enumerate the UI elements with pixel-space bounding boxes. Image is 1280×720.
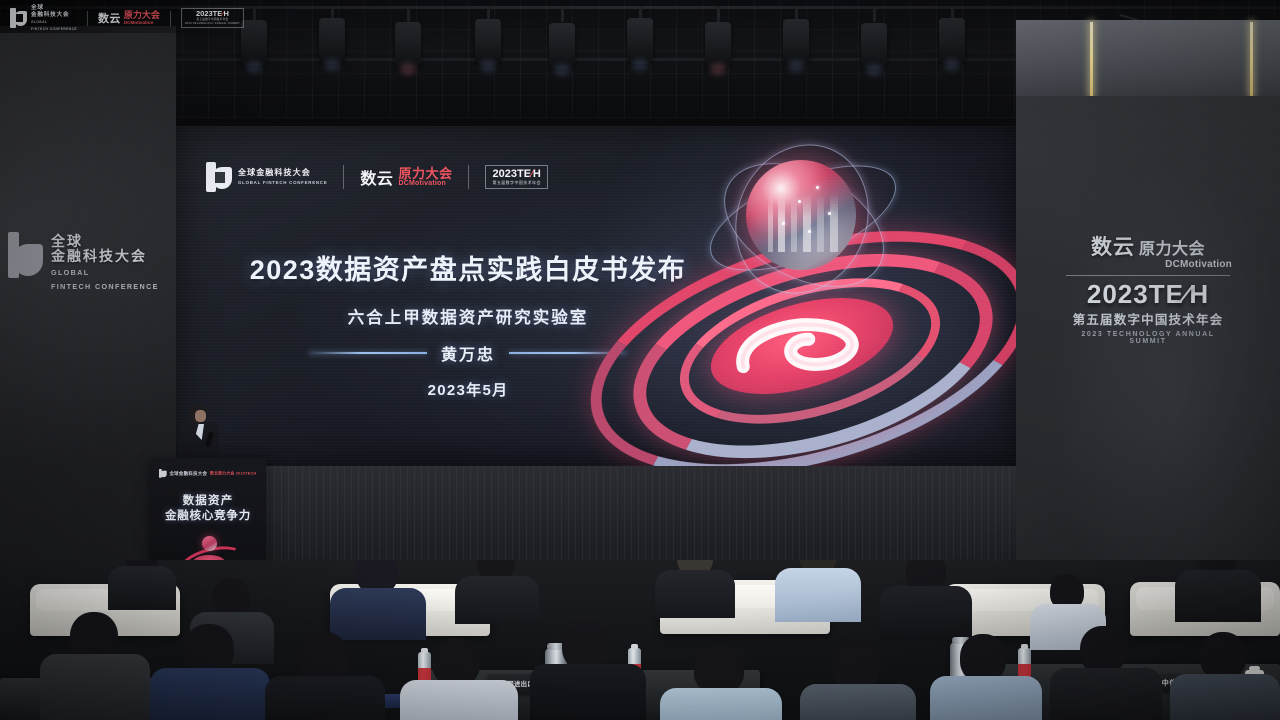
- stage-spotlight: [395, 22, 421, 68]
- audience-member: [150, 624, 270, 720]
- podium-logo-dc: 数云原力大会 2023TECH: [210, 471, 257, 477]
- screen-badge-year: 2023: [492, 168, 516, 180]
- audience-member: [930, 634, 1042, 720]
- screen-dc-en: DCMotivation: [398, 180, 452, 188]
- screen-gf-en: GLOBAL FINTECH CONFERENCE: [238, 180, 327, 187]
- global-fintech-logo-icon: [206, 162, 232, 192]
- right-wall-subtitle-cn: 第五届数字中国技术年会: [1062, 309, 1234, 328]
- screen-dc-cn: 数云: [360, 165, 393, 189]
- led-strip-light: [1090, 22, 1093, 96]
- screen-presenter-name: 黄万忠: [441, 341, 495, 365]
- audience-member: [530, 620, 646, 720]
- global-fintech-logo-icon: [8, 232, 44, 278]
- audience-member: [1170, 632, 1280, 720]
- screen-dcmotivation-logo: 数云 原力大会 DCMotivation: [360, 165, 452, 189]
- podium-line1: 数据资产: [150, 494, 266, 509]
- right-wall-subtitle-en: 2023 TECHNOLOGY ANNUAL SUMMIT: [1062, 331, 1234, 345]
- light-hanger: [561, 6, 564, 22]
- podium-logo-lockup: 全球金融科技大会 数云原力大会 2023TECH: [159, 469, 257, 478]
- decorative-rule-left: [309, 352, 427, 354]
- bug-gf-cn-line2: 金融科技大会: [31, 12, 77, 19]
- screen-gf-cn: 全球金融科技大会: [238, 168, 327, 178]
- bug-tech-badge: 2023TE∕H 第五届数字中国技术年会 2023 TECHNOLOGY ANN…: [181, 8, 244, 29]
- left-wall-cn-line1: 全球: [51, 234, 159, 249]
- bug-dc-yuan: 原力大会: [124, 11, 160, 20]
- speaker-face: [195, 410, 206, 422]
- right-wall-shu-label: 数云: [1091, 231, 1135, 261]
- broadcast-logo-bug: 全球 金融科技大会 GLOBAL FINTECH CONFERENCE 数云 原…: [0, 0, 246, 33]
- audience-member: [40, 612, 150, 720]
- graphic-globe-sphere: [746, 160, 856, 270]
- stage-spotlight: [627, 18, 653, 64]
- light-hanger: [717, 6, 720, 22]
- bug-dcmotivation: 数云 原力大会 DCMotivation: [98, 10, 160, 26]
- screen-3d-graphic: [576, 136, 1016, 466]
- logo-divider: [343, 165, 344, 189]
- audience-member: [1050, 626, 1162, 720]
- right-wall-divider: [1066, 275, 1230, 276]
- right-wall-te: TE: [1149, 279, 1184, 309]
- audience-area: 中国进出口银行 中信银行 中信银行: [0, 560, 1280, 720]
- podium-logo-cn: 全球金融科技大会: [169, 470, 207, 476]
- stage-spotlight: [549, 23, 575, 69]
- audience-member: [660, 646, 782, 720]
- conference-stage-frame: 全球 金融科技大会 GLOBAL FINTECH CONFERENCE 数云 原…: [0, 0, 1280, 720]
- audience-member: [400, 638, 518, 720]
- speaker-presenter: [176, 404, 222, 466]
- screen-badge-te: TE: [517, 168, 531, 180]
- podium-sphere: [202, 536, 217, 551]
- bug-gf-en-line1: GLOBAL: [31, 20, 77, 25]
- screen-badge-sub: 第五届数字中国技术年会: [492, 180, 540, 186]
- audience-member: [880, 560, 972, 636]
- left-wall-en-line1: GLOBAL: [51, 268, 159, 278]
- city-skyline-icon: [764, 194, 838, 252]
- bug-global-fintech: 全球 金融科技大会 GLOBAL FINTECH CONFERENCE: [10, 5, 77, 31]
- audience-member: [800, 642, 916, 720]
- audience-member: [265, 632, 385, 720]
- bug-gf-cn-line1: 全球: [31, 5, 77, 12]
- podium-title-block: 数据资产 金融核心竞争力: [150, 494, 266, 524]
- left-wall-en-line2: FINTECH CONFERENCE: [51, 282, 159, 292]
- stage-spotlight: [705, 22, 731, 68]
- bug-gf-en-line2: FINTECH CONFERENCE: [31, 27, 77, 32]
- screen-logo-lockup: 全球金融科技大会 GLOBAL FINTECH CONFERENCE 数云 原力…: [206, 162, 548, 192]
- left-wall-cn-line2: 金融科技大会: [51, 249, 159, 264]
- global-fintech-logo-icon: [159, 469, 167, 478]
- audience-member: [330, 560, 426, 634]
- light-hanger: [873, 6, 876, 22]
- audience-member: [775, 560, 861, 618]
- bug-badge-te: TE: [213, 9, 223, 18]
- left-wall-branding: 全球 金融科技大会 GLOBAL FINTECH CONFERENCE: [8, 232, 168, 292]
- audience-member: [1175, 560, 1261, 618]
- audience-member: [655, 560, 735, 614]
- stage-spotlight: [783, 19, 809, 65]
- bug-divider: [87, 11, 88, 26]
- stage-spotlight: [861, 23, 887, 69]
- audience-member: [455, 560, 539, 620]
- right-wall-h: H: [1189, 279, 1209, 309]
- stage-spotlight: [939, 18, 965, 64]
- bug-badge-sub-en: 2023 TECHNOLOGY ANNUAL SUMMIT: [185, 22, 240, 26]
- screen-dc-yuan: 原力大会: [398, 167, 452, 180]
- right-wall-branding: 数云 原力大会 DCMotivation 2023TE∕H 第五届数字中国技术年…: [1062, 231, 1234, 345]
- stage-spotlight: [475, 19, 501, 65]
- screen-badge-h: H: [533, 168, 541, 180]
- stage-spotlight: [319, 18, 345, 64]
- bug-dc-shu: 数云: [98, 10, 121, 26]
- bug-badge-h: H: [224, 9, 229, 18]
- global-fintech-logo-icon: [10, 8, 27, 28]
- upper-right-panel: [1016, 20, 1280, 98]
- bug-dc-en: DCMotivation: [124, 21, 160, 26]
- led-strip-light: [1250, 22, 1253, 96]
- right-wall-tech-lockup: 2023TE∕H: [1062, 281, 1234, 308]
- screen-tech-badge: 2023TE∕H 第五届数字中国技术年会: [485, 165, 547, 189]
- main-led-screen: 全球金融科技大会 GLOBAL FINTECH CONFERENCE 数云 原力…: [176, 126, 1016, 466]
- screen-global-fintech-logo: 全球金融科技大会 GLOBAL FINTECH CONFERENCE: [206, 162, 327, 192]
- audience-member: [108, 560, 176, 608]
- logo-divider: [468, 165, 469, 189]
- right-wall-en-label: DCMotivation: [1062, 259, 1234, 270]
- bug-badge-year: 2023: [196, 9, 213, 18]
- podium-line2: 金融核心竞争力: [150, 509, 266, 524]
- light-hanger: [407, 6, 410, 22]
- right-wall-yuan-label: 原力大会: [1139, 235, 1205, 259]
- bug-divider: [170, 11, 171, 26]
- right-wall-year: 2023: [1087, 279, 1149, 309]
